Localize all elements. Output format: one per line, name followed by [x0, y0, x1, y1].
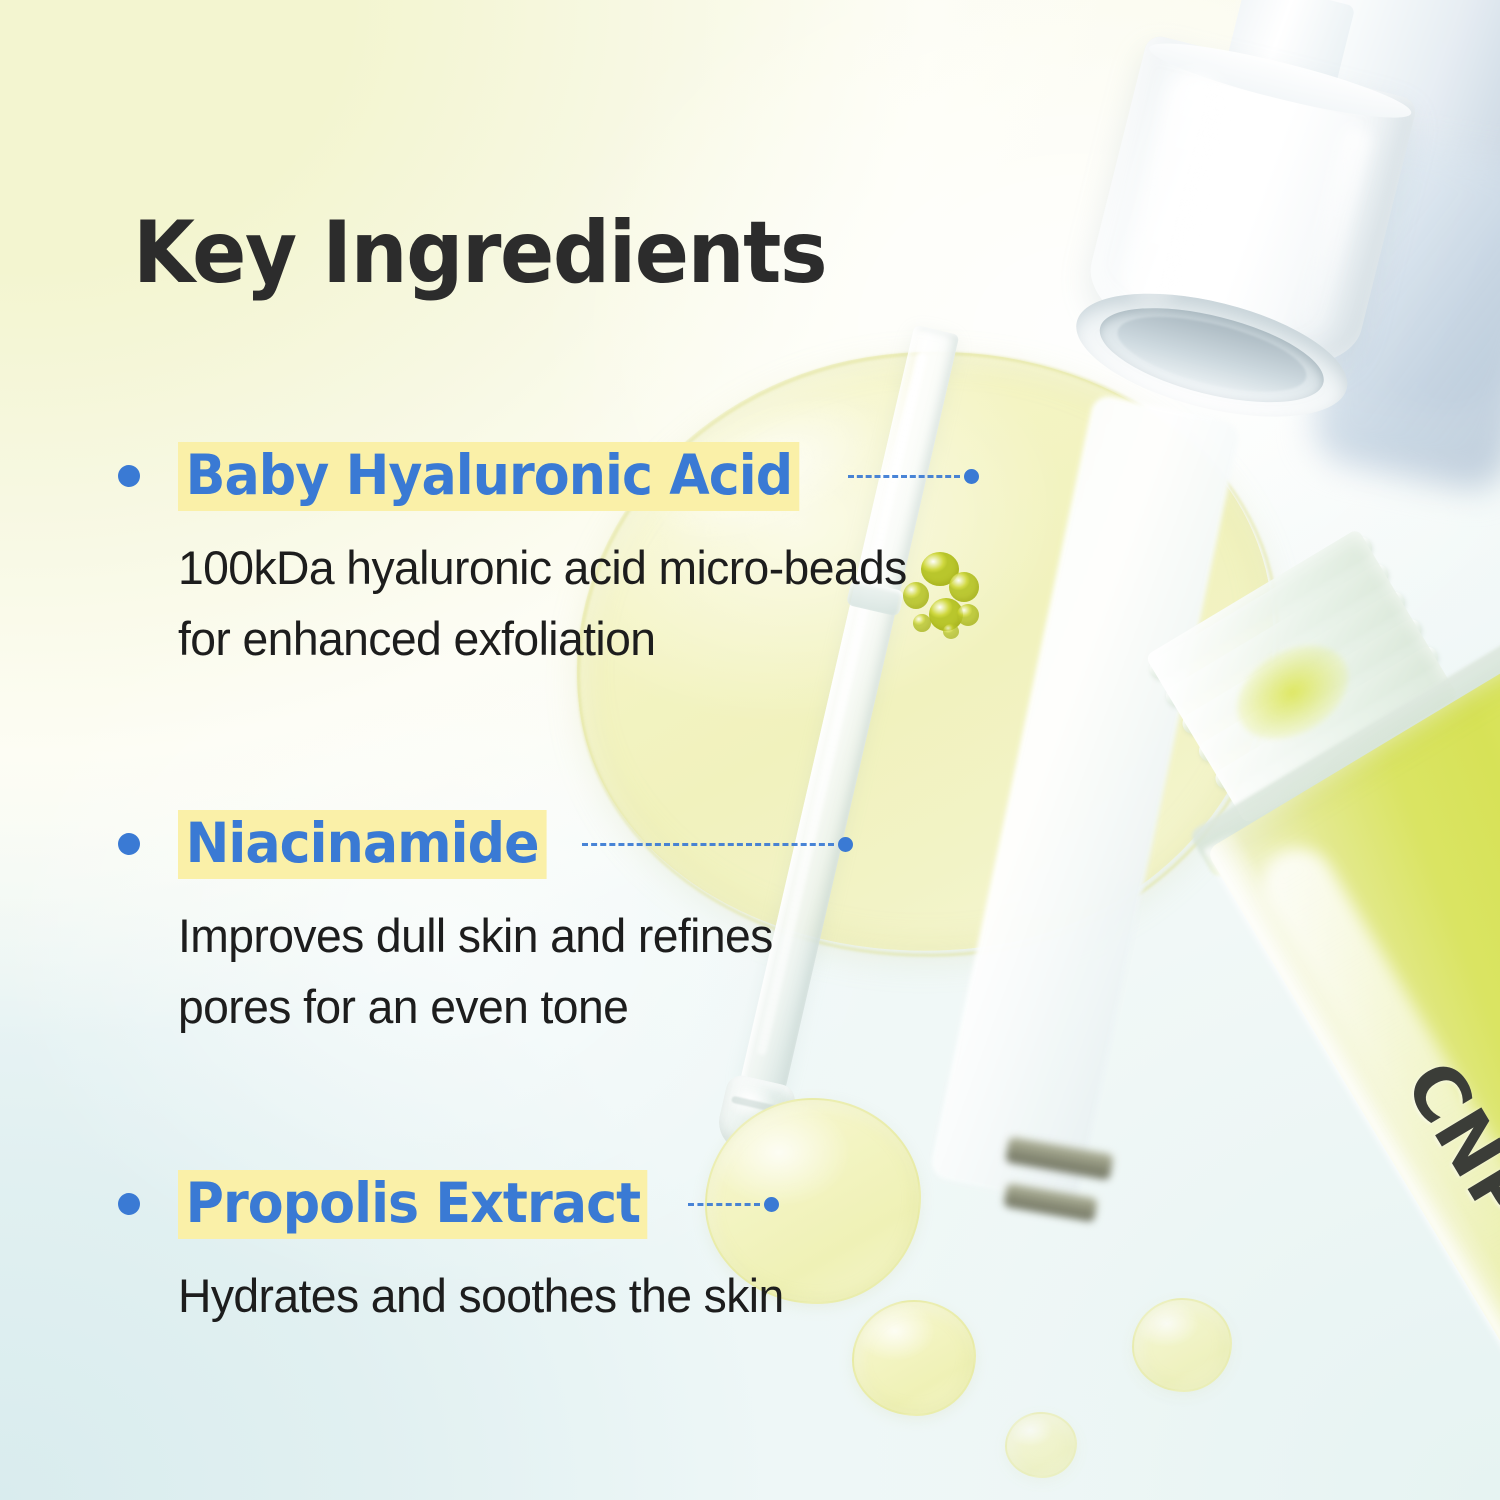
bullet-dot-icon	[118, 1193, 140, 1215]
ingredient-heading-row: Propolis Extract	[118, 1168, 1118, 1240]
dashed-line-segment	[582, 843, 834, 846]
dashed-connector	[688, 1197, 779, 1212]
ingredient-name: Baby Hyaluronic Acid	[178, 442, 800, 511]
infographic-canvas: CNP La Key Ingredients Baby Hyaluronic A…	[0, 0, 1500, 1500]
ingredient-heading-row: Niacinamide	[118, 808, 1118, 880]
bullet-dot-icon	[118, 833, 140, 855]
connector-end-dot-icon	[838, 837, 853, 852]
ingredient-description: Hydrates and soothes the skin	[178, 1260, 1104, 1331]
ingredient-heading-row: Baby Hyaluronic Acid	[118, 440, 1118, 512]
ingredient-description: Improves dull skin and refines pores for…	[178, 900, 1104, 1043]
dashed-connector	[848, 469, 979, 484]
ingredient-name: Propolis Extract	[178, 1170, 648, 1239]
ingredient-description: 100kDa hyaluronic acid micro-beads for e…	[178, 532, 1104, 675]
connector-end-dot-icon	[964, 469, 979, 484]
dashed-line-segment	[848, 475, 960, 478]
dashed-line-segment	[688, 1203, 760, 1206]
content-layer: Key Ingredients Baby Hyaluronic Acid 100…	[0, 0, 1500, 1500]
ingredient-item-niacinamide: Niacinamide Improves dull skin and refin…	[118, 808, 1118, 1043]
ingredient-name: Niacinamide	[178, 810, 546, 879]
bullet-dot-icon	[118, 465, 140, 487]
connector-end-dot-icon	[764, 1197, 779, 1212]
ingredient-item-baby-hyaluronic-acid: Baby Hyaluronic Acid 100kDa hyaluronic a…	[118, 440, 1118, 675]
ingredient-item-propolis-extract: Propolis Extract Hydrates and soothes th…	[118, 1168, 1118, 1331]
page-title: Key Ingredients	[133, 210, 826, 296]
dashed-connector	[582, 837, 853, 852]
